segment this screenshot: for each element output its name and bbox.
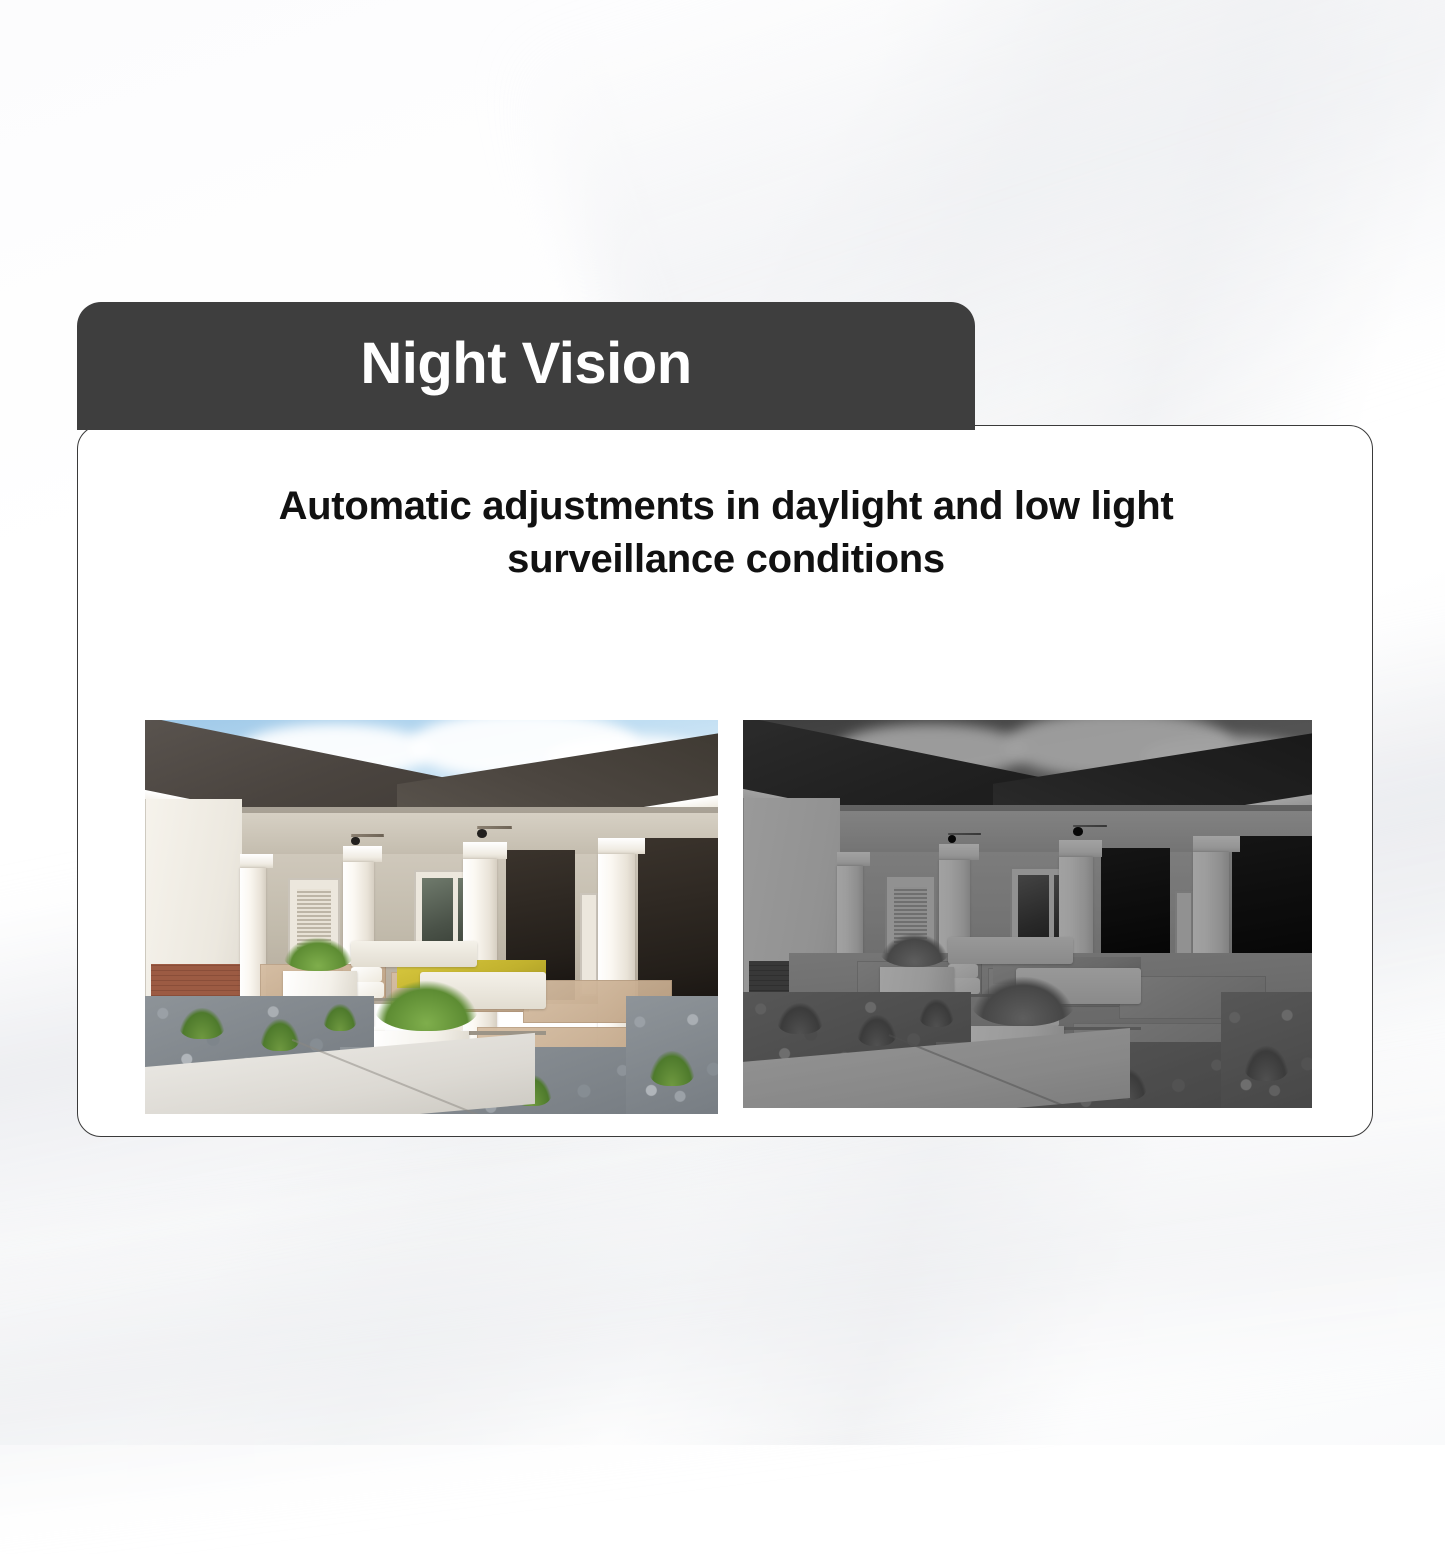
porch-scene-night-vision	[743, 720, 1312, 1108]
planter-box	[880, 933, 954, 987]
night-vision-photo	[743, 720, 1312, 1108]
card-header-tab: Night Vision	[77, 302, 975, 430]
page-title: Night Vision	[360, 335, 691, 393]
feature-card: Night Vision Automatic adjustments in da…	[77, 302, 1373, 1137]
ornamental-grass	[649, 1051, 695, 1086]
daylight-photo	[145, 720, 718, 1114]
planter-box	[283, 937, 357, 992]
porch-scene-daylight	[145, 720, 718, 1114]
ornamental-grass	[179, 1008, 225, 1040]
ornamental-grass	[857, 1015, 897, 1046]
ornamental-grass	[919, 999, 953, 1026]
ornamental-grass	[260, 1019, 300, 1051]
ornamental-grass	[777, 1003, 823, 1034]
card-body: Automatic adjustments in daylight and lo…	[77, 425, 1373, 1137]
ornamental-grass	[323, 1004, 357, 1032]
card-subtitle: Automatic adjustments in daylight and lo…	[168, 480, 1284, 586]
ornamental-grass	[1244, 1046, 1290, 1081]
comparison-image-row	[145, 720, 1312, 1114]
